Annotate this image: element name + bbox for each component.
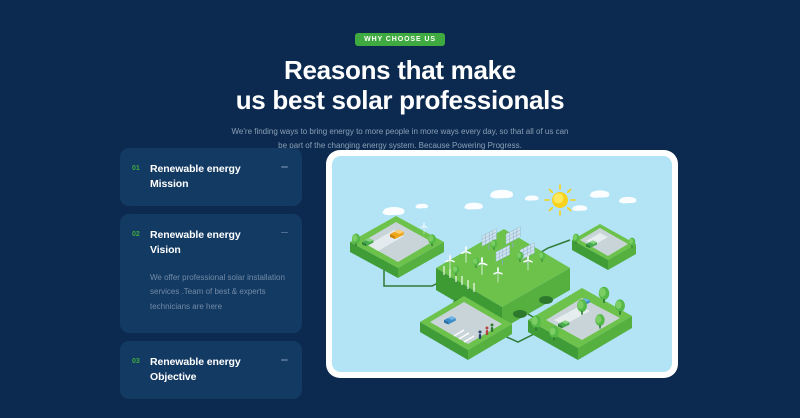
renewable-energy-illustration [332,156,672,372]
page-subtitle-line-2: be part of the changing energy system. B… [278,141,522,150]
page-title-line-1: Reasons that make [284,55,516,85]
accordion-title-03: Renewable energy Objective [150,355,241,385]
page-title: Reasons that make us best solar professi… [0,55,800,115]
accordion-title-02-line-2: Vision [150,244,181,256]
accordion-number-01: 01 [132,165,144,172]
accordion-list: 01 Renewable energy Mission 02 Renewable… [120,148,302,407]
illustration-canvas [332,156,672,372]
accordion-header-01[interactable]: 01 Renewable energy Mission [132,162,286,192]
minus-icon[interactable] [281,166,288,168]
accordion-title-01-line-1: Renewable energy [150,163,241,175]
pedestrian-icon [479,331,482,340]
page-subtitle-line-1: We're finding ways to bring energy to mo… [232,127,569,136]
accordion-number-03: 03 [132,358,144,365]
page-root: WHY CHOOSE US Reasons that make us best … [0,0,800,418]
illustration-card [326,150,678,378]
accordion-item-03[interactable]: 03 Renewable energy Objective [120,341,302,399]
accordion-body-02: We offer professional solar installation… [150,271,286,319]
accordion-item-01[interactable]: 01 Renewable energy Mission [120,148,302,206]
accordion-title-01-line-2: Mission [150,178,188,190]
pedestrian-icon [491,324,494,333]
page-header: WHY CHOOSE US Reasons that make us best … [0,0,800,153]
accordion-header-03[interactable]: 03 Renewable energy Objective [132,355,286,385]
accordion-header-02[interactable]: 02 Renewable energy Vision [132,228,286,258]
accordion-title-03-line-2: Objective [150,371,196,383]
accordion-title-02: Renewable energy Vision [150,228,241,258]
accordion-title-02-line-1: Renewable energy [150,229,241,241]
accordion-number-02: 02 [132,231,144,238]
accordion-title-01: Renewable energy Mission [150,162,241,192]
minus-icon[interactable] [281,359,288,361]
accordion-item-02[interactable]: 02 Renewable energy Vision We offer prof… [120,214,302,333]
page-title-line-2: us best solar professionals [0,85,800,115]
sun-icon [545,185,575,215]
section-badge: WHY CHOOSE US [355,33,445,46]
pedestrian-icon [486,327,489,336]
accordion-title-03-line-1: Renewable energy [150,356,241,368]
